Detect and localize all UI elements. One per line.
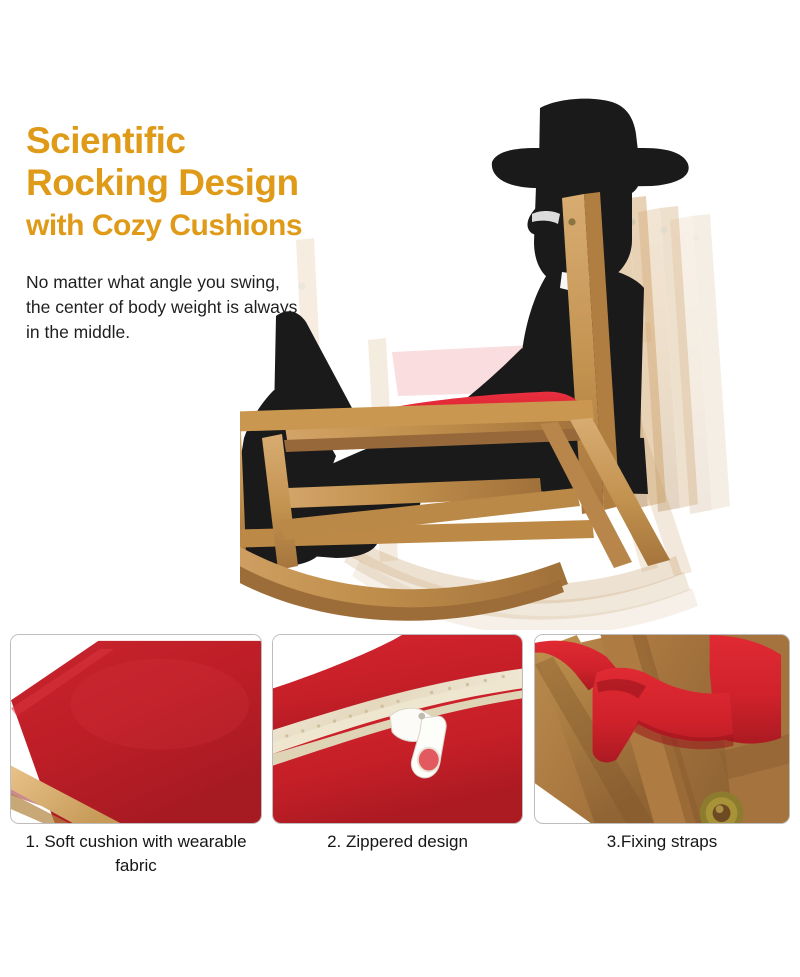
cushion-sheen — [71, 659, 250, 750]
detail-panel-fixing-straps — [534, 634, 790, 824]
detail-panel-zippered-design — [272, 634, 523, 824]
slider-pin — [418, 713, 425, 720]
caption-soft-cushion: 1. Soft cushion with wearable fabric — [10, 830, 262, 878]
caption-fixing-straps: 3.Fixing straps — [534, 830, 790, 854]
hero-illustration — [240, 90, 800, 630]
chair-back-bolt — [568, 218, 575, 225]
infographic-page: Scientific Rocking Design with Cozy Cush… — [0, 0, 800, 977]
detail-panel-row — [0, 634, 800, 824]
caption-zippered-design: 2. Zippered design — [272, 830, 523, 854]
caption-row: 1. Soft cushion with wearable fabric 2. … — [0, 830, 800, 890]
detail-panel-soft-cushion — [10, 634, 262, 824]
